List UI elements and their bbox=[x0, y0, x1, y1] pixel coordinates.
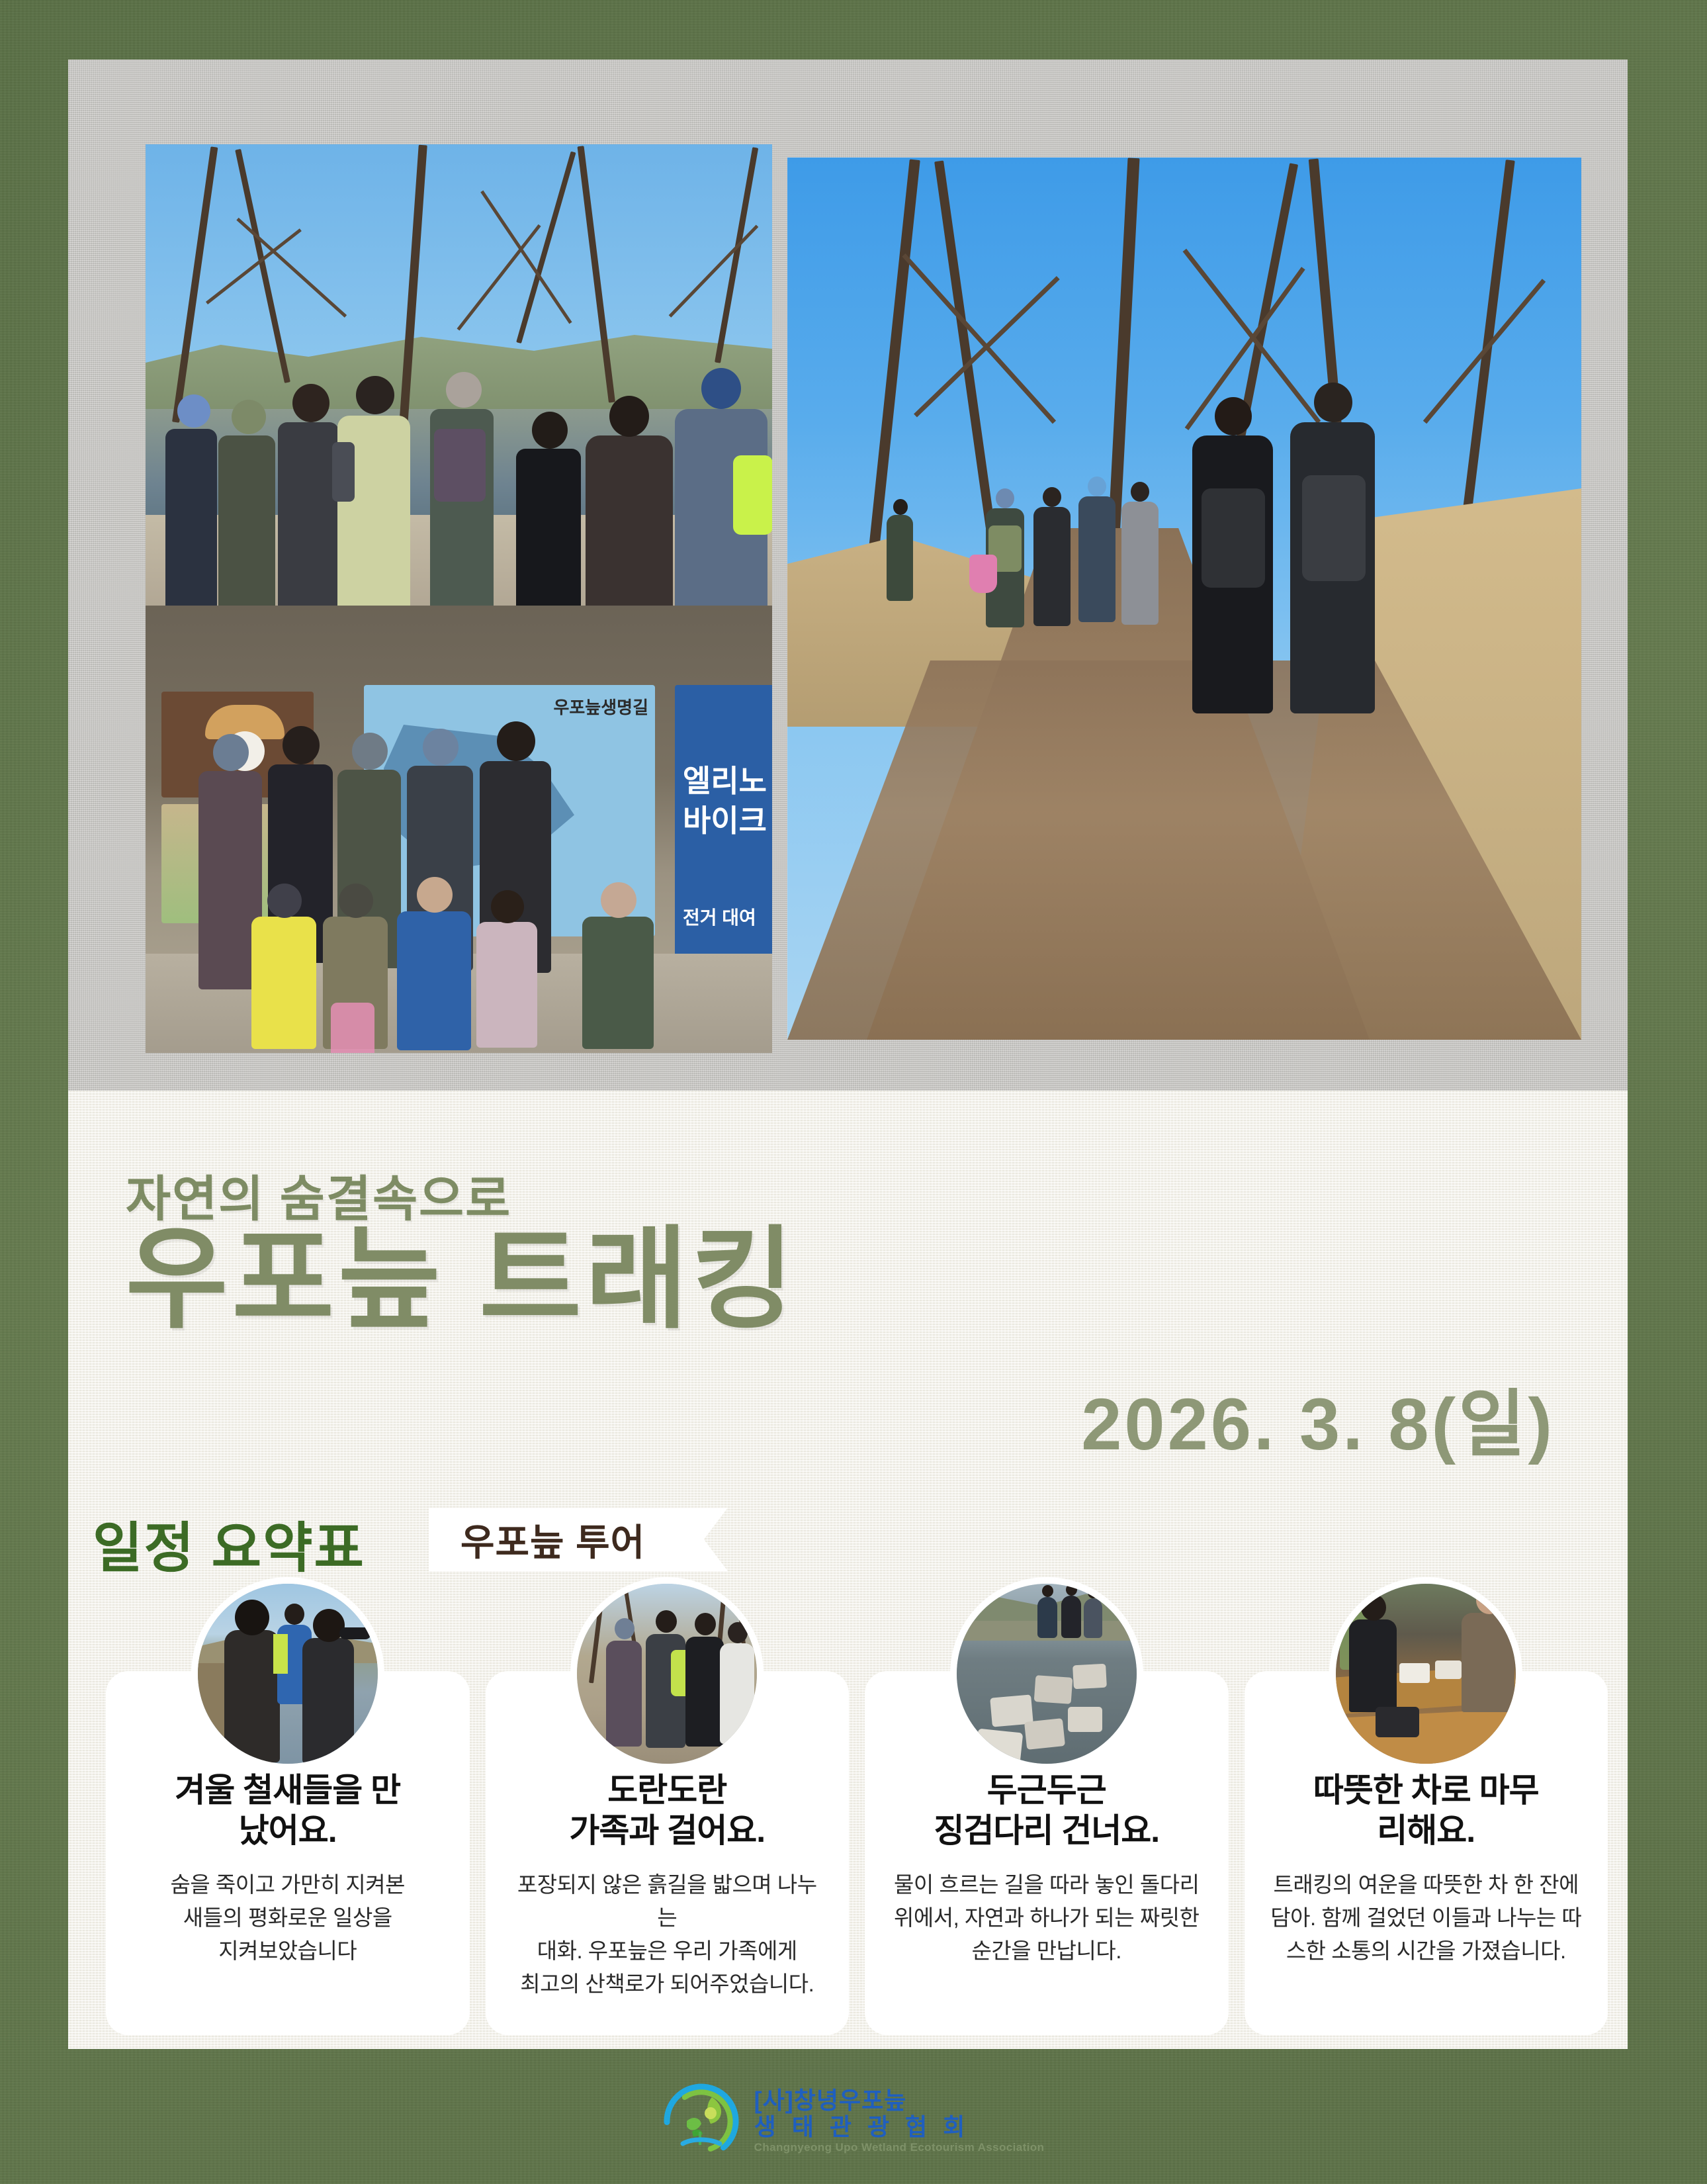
stepping-stone bbox=[975, 1729, 1023, 1764]
group-portrait-at-signboard-photo: 우포늪생명길 엘리노 바이크 전거 대여 bbox=[146, 606, 772, 1053]
trail-walker-foreground bbox=[1290, 422, 1375, 713]
schedule-heading: 일정 요약표 bbox=[93, 1504, 365, 1582]
card-body: 물이 흐르는 길을 따라 놓인 돌다리 위에서, 자연과 하나가 되는 짜릿한 … bbox=[894, 1868, 1199, 1968]
cafe-cup bbox=[1399, 1663, 1430, 1683]
cafe-table-foreground bbox=[1336, 1709, 1516, 1764]
bike-rental-signboard: 엘리노 바이크 전거 대여 bbox=[675, 685, 772, 970]
event-date: 2026. 3. 8(일) bbox=[1081, 1365, 1555, 1471]
schedule-card[interactable]: 겨울 철새들을 만 났어요. 숨을 죽이고 가만히 지켜본 새들의 평화로운 일… bbox=[106, 1671, 470, 2035]
trail-walking-photo bbox=[787, 158, 1581, 1040]
tour-ribbon-badge: 우포늪 투어 bbox=[429, 1508, 728, 1571]
schedule-card[interactable]: 도란도란 가족과 걸어요. 포장되지 않은 흙길을 밟으며 나누는 대화. 우포… bbox=[486, 1671, 850, 2035]
trail-walker bbox=[1121, 502, 1159, 625]
bike-rental-label-2: 바이크 bbox=[683, 804, 767, 838]
card-title: 두근두근 징검다리 건너요. bbox=[934, 1770, 1159, 1851]
cafe-cup bbox=[1435, 1661, 1462, 1679]
association-logo-icon bbox=[663, 2083, 740, 2160]
association-logo-text: [사]창녕우포늪 생 태 관 광 협 회 Changnyeong Upo Wet… bbox=[754, 2088, 1045, 2154]
trail-walker bbox=[1033, 507, 1071, 626]
card-title: 따뜻한 차로 마무 리해요. bbox=[1313, 1770, 1539, 1851]
card-title: 겨울 철새들을 만 났어요. bbox=[175, 1770, 400, 1851]
bike-rental-label-1: 엘리노 bbox=[683, 764, 767, 798]
trail-walker bbox=[1078, 496, 1116, 622]
trail-walker bbox=[887, 515, 913, 601]
association-name-line2: 생 태 관 광 협 회 bbox=[754, 2115, 1045, 2140]
stepping-stone bbox=[1068, 1707, 1102, 1732]
stepping-stone bbox=[1024, 1718, 1065, 1750]
stepping-stones-circle-photo bbox=[950, 1577, 1143, 1770]
association-name-line1: [사]창녕우포늪 bbox=[754, 2088, 1045, 2113]
pink-bag bbox=[969, 555, 997, 593]
card-title: 도란도란 가족과 걸어요. bbox=[569, 1770, 765, 1851]
schedule-card-grid: 겨울 철새들을 만 났어요. 숨을 죽이고 가만히 지켜본 새들의 평화로운 일… bbox=[106, 1671, 1608, 2035]
card-body: 트래킹의 여운을 따뜻한 차 한 잔에 담아. 함께 걸었던 이들과 나누는 따… bbox=[1270, 1868, 1581, 1968]
association-name-english: Changnyeong Upo Wetland Ecotourism Assoc… bbox=[754, 2141, 1045, 2154]
seated-member bbox=[397, 911, 471, 1050]
stepping-stone bbox=[1033, 1675, 1072, 1704]
stepping-stone bbox=[1072, 1664, 1107, 1690]
page-title: 우포늪 트래킹 bbox=[126, 1221, 798, 1338]
tea-cafe-circle-photo bbox=[1329, 1577, 1522, 1770]
card-body: 포장되지 않은 흙길을 밟으며 나누는 대화. 우포늪은 우리 가족에게 최고의… bbox=[508, 1868, 827, 2001]
footer-logo-area: [사]창녕우포늪 생 태 관 광 협 회 Changnyeong Upo Wet… bbox=[0, 2058, 1707, 2184]
schedule-card[interactable]: 두근두근 징검다리 건너요. 물이 흐르는 길을 따라 놓인 돌다리 위에서, … bbox=[865, 1671, 1229, 2035]
trail-walker-foreground bbox=[1192, 435, 1273, 713]
birdwatching-circle-photo bbox=[191, 1577, 384, 1770]
seated-child bbox=[476, 922, 537, 1048]
life-road-sign-label: 우포늪생명길 bbox=[553, 694, 648, 719]
bike-rental-label-3: 전거 대여 bbox=[683, 903, 756, 930]
cafe-phone bbox=[1376, 1707, 1419, 1737]
photo-collage-panel: 우포늪생명길 엘리노 바이크 전거 대여 bbox=[68, 60, 1628, 1091]
schedule-card[interactable]: 따뜻한 차로 마무 리해요. 트래킹의 여운을 따뜻한 차 한 잔에 담아. 함… bbox=[1245, 1671, 1608, 2035]
family-walking-circle-photo bbox=[570, 1577, 764, 1770]
pink-trash-bag bbox=[331, 1003, 374, 1053]
tour-ribbon-label: 우포늪 투어 bbox=[429, 1513, 645, 1567]
seated-member bbox=[251, 917, 316, 1049]
card-body: 숨을 죽이고 가만히 지켜본 새들의 평화로운 일상을 지켜보았습니다 bbox=[171, 1868, 405, 1968]
seated-member bbox=[582, 917, 654, 1049]
